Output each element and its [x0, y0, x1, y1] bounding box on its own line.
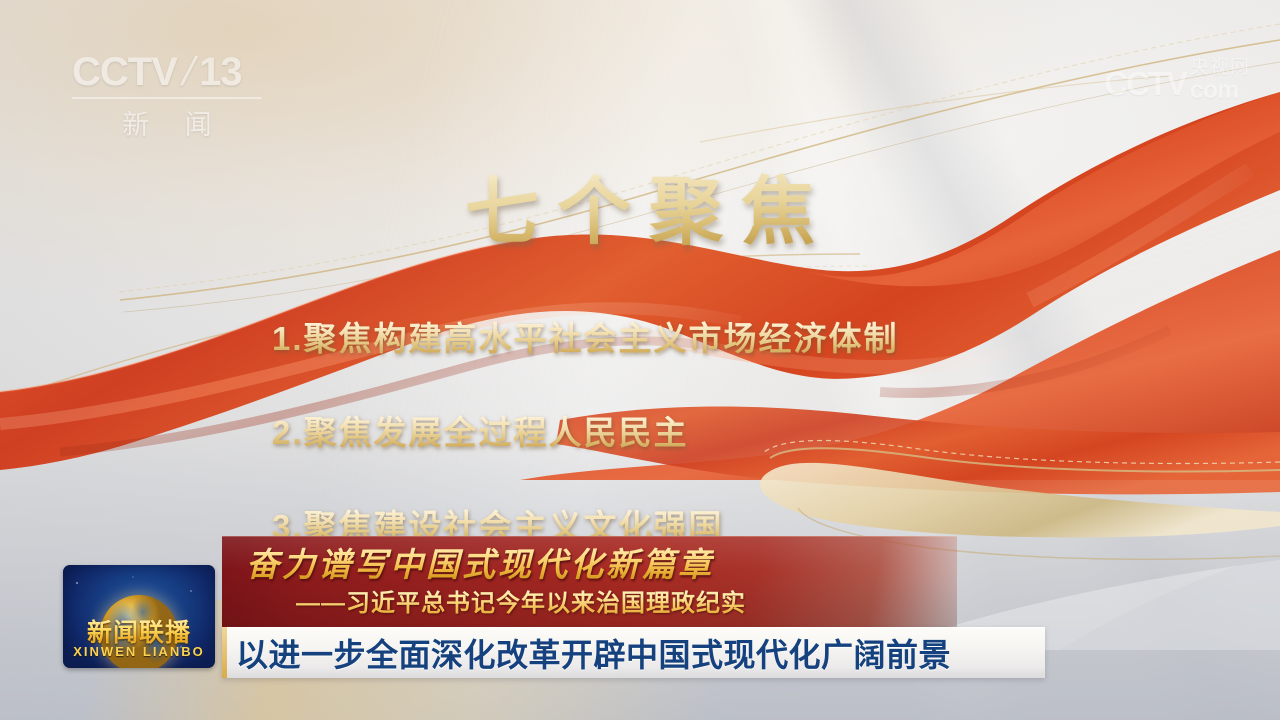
- red-banner: 奋力谱写中国式现代化新篇章 ——习近平总书记今年以来治国理政纪实: [222, 536, 957, 627]
- banner-subtitle: ——习近平总书记今年以来治国理政纪实: [296, 583, 746, 618]
- watermark-cctv: CCTV: [1104, 65, 1186, 103]
- lower-third-headline: 以进一步全面深化改革开辟中国式现代化广阔前景: [222, 630, 951, 676]
- cctv-logo-number: 13: [199, 50, 242, 95]
- cctv-com-watermark: CCTV 央视网 com: [1104, 58, 1250, 103]
- cctv-logo-divider: [72, 97, 262, 99]
- xinwen-lianbo-logo: 新闻联播 XINWEN LIANBO: [63, 565, 215, 668]
- lower-third-bar: 以进一步全面深化改革开辟中国式现代化广阔前景: [222, 627, 1045, 678]
- broadcast-frame: CCTV / 13 新 闻 CCTV 央视网 com 七个聚焦 1.聚焦构建高水…: [0, 0, 1280, 720]
- page-title: 七个聚焦: [0, 152, 1280, 259]
- cctv-logo-slash: /: [177, 50, 198, 95]
- list-item: 1.聚焦构建高水平社会主义市场经济体制: [272, 312, 1052, 360]
- list-item: 2.聚焦发展全过程人民民主: [272, 406, 1052, 454]
- banner-title: 奋力谱写中国式现代化新篇章: [246, 538, 714, 586]
- watermark-com: com: [1190, 78, 1250, 103]
- cctv-logo-subtitle: 新 闻: [72, 103, 262, 142]
- program-name-en: XINWEN LIANBO: [63, 644, 215, 659]
- cctv-logo-text: CCTV: [72, 50, 177, 95]
- cctv13-channel-logo: CCTV / 13 新 闻: [72, 50, 282, 142]
- watermark-cn: 央视网: [1190, 58, 1250, 77]
